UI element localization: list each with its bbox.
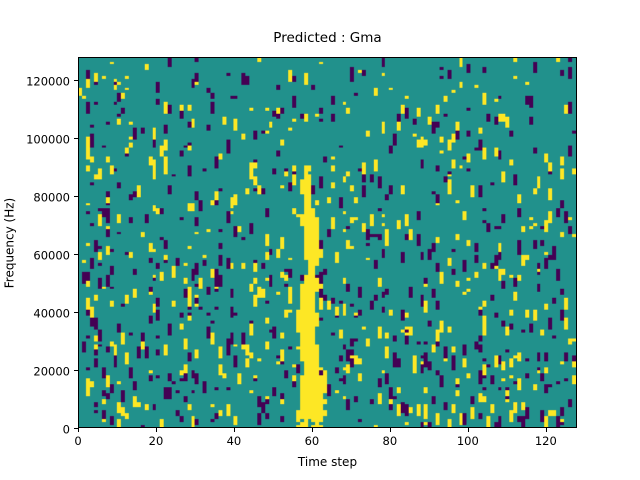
y-tick-label: 0 bbox=[63, 423, 70, 437]
y-tick-label: 120000 bbox=[26, 75, 70, 89]
x-tick-label: 0 bbox=[74, 434, 81, 448]
x-tick-mark bbox=[468, 428, 469, 432]
y-tick-mark bbox=[74, 312, 78, 313]
x-tick-mark bbox=[390, 428, 391, 432]
y-tick-label-wrap: 80000 bbox=[0, 187, 70, 206]
y-tick-label-wrap: 0 bbox=[0, 419, 70, 438]
y-tick-label: 100000 bbox=[26, 133, 70, 147]
y-tick-mark bbox=[74, 428, 78, 429]
x-tick-mark bbox=[78, 428, 79, 432]
y-tick-mark bbox=[74, 80, 78, 81]
y-tick-mark bbox=[74, 138, 78, 139]
y-tick-mark bbox=[74, 196, 78, 197]
y-tick-label-wrap: 120000 bbox=[0, 71, 70, 90]
figure-canvas: Predicted : Gma Frequency (Hz) Time step… bbox=[0, 0, 640, 480]
chart-title: Predicted : Gma bbox=[78, 30, 577, 46]
x-tick-mark bbox=[234, 428, 235, 432]
y-tick-label: 80000 bbox=[33, 191, 70, 205]
x-tick-mark bbox=[156, 428, 157, 432]
x-tick-label: 80 bbox=[383, 434, 398, 448]
x-tick-mark bbox=[546, 428, 547, 432]
heatmap-image bbox=[79, 58, 576, 427]
y-tick-mark bbox=[74, 370, 78, 371]
y-tick-label: 20000 bbox=[33, 365, 70, 379]
y-tick-label-wrap: 40000 bbox=[0, 303, 70, 322]
x-tick-label: 40 bbox=[227, 434, 242, 448]
x-tick-label: 60 bbox=[305, 434, 320, 448]
y-axis-label-text: Frequency (Hz) bbox=[2, 197, 16, 288]
y-tick-label-wrap: 100000 bbox=[0, 129, 70, 148]
x-tick-mark bbox=[312, 428, 313, 432]
y-tick-label: 60000 bbox=[33, 249, 70, 263]
y-tick-label-wrap: 20000 bbox=[0, 361, 70, 380]
x-tick-label: 120 bbox=[535, 434, 557, 448]
x-tick-label: 20 bbox=[149, 434, 164, 448]
x-tick-label: 100 bbox=[457, 434, 479, 448]
y-tick-mark bbox=[74, 254, 78, 255]
plot-area bbox=[78, 57, 577, 428]
y-tick-label: 40000 bbox=[33, 307, 70, 321]
y-tick-label-wrap: 60000 bbox=[0, 245, 70, 264]
x-axis-label: Time step bbox=[78, 455, 577, 469]
